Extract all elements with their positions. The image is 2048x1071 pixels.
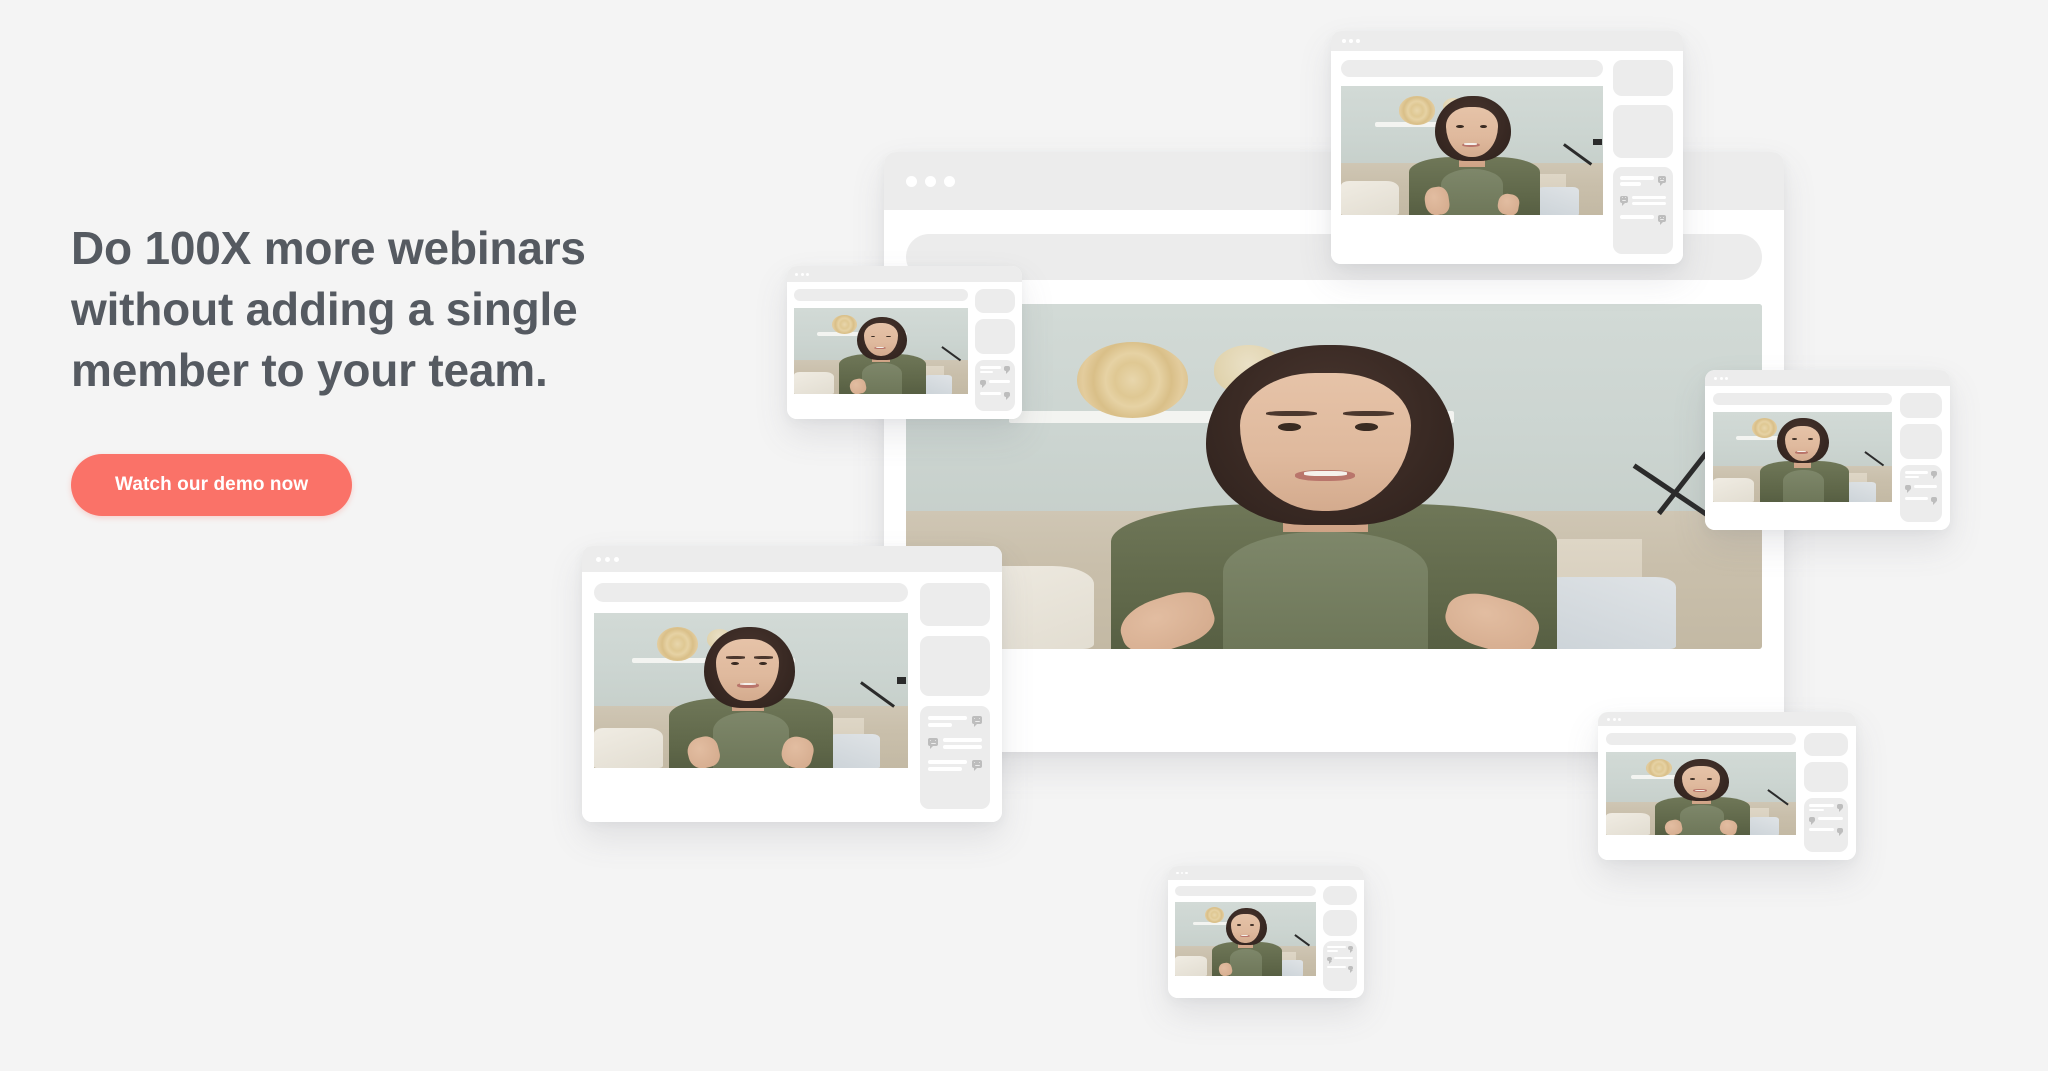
sidebar-panel-1[interactable] (975, 289, 1015, 313)
window-low-right-titlebar (1598, 712, 1856, 726)
watch-demo-button[interactable]: Watch our demo now (71, 454, 352, 516)
window-top-right[interactable] (1331, 31, 1683, 264)
window-dots-icon (906, 176, 955, 187)
video-thumbnail[interactable] (594, 613, 908, 768)
sidebar-panel-2[interactable] (1323, 910, 1357, 936)
main-window-video[interactable] (906, 304, 1762, 649)
sidebar-chat-panel[interactable] (1613, 167, 1673, 254)
search-bar[interactable] (1713, 393, 1892, 405)
window-low-right[interactable] (1598, 712, 1856, 860)
window-sidebar (975, 289, 1015, 411)
sidebar-panel-2[interactable] (975, 319, 1015, 354)
sidebar-panel-1[interactable] (1900, 393, 1942, 418)
window-left-small[interactable] (787, 266, 1022, 419)
window-mid-right-titlebar (1705, 370, 1950, 386)
presenter-photo (906, 304, 1762, 649)
search-bar[interactable] (1341, 60, 1603, 77)
window-sidebar (1804, 733, 1848, 852)
sidebar-panel-1[interactable] (1804, 733, 1848, 756)
window-sidebar (1323, 886, 1357, 991)
presenter-photo (594, 613, 908, 768)
presenter-photo (1713, 412, 1892, 502)
window-dots-icon (795, 273, 809, 276)
presenter-photo (1341, 86, 1603, 215)
window-lower-left[interactable] (582, 546, 1002, 822)
window-left-small-titlebar (787, 266, 1022, 282)
page-title: Do 100X more webinars without adding a s… (71, 218, 751, 402)
sidebar-chat-panel[interactable] (1804, 798, 1848, 852)
search-bar[interactable] (794, 289, 968, 301)
sidebar-panel-2[interactable] (1804, 762, 1848, 792)
sidebar-panel-2[interactable] (1613, 105, 1673, 158)
presenter-photo (1175, 902, 1316, 976)
window-sidebar (1613, 60, 1673, 254)
window-dots-icon (1607, 718, 1621, 721)
window-dots-icon (1176, 872, 1188, 875)
window-dots-icon (1714, 377, 1728, 380)
search-bar[interactable] (1606, 733, 1796, 745)
window-sidebar (1900, 393, 1942, 522)
sidebar-chat-panel[interactable] (975, 360, 1015, 411)
window-bottom[interactable] (1168, 866, 1364, 998)
window-sidebar (920, 583, 990, 809)
video-thumbnail[interactable] (1713, 412, 1892, 502)
window-top-right-titlebar (1331, 31, 1683, 51)
hero-section: Do 100X more webinars without adding a s… (0, 0, 2048, 1071)
video-thumbnail[interactable] (1606, 752, 1796, 835)
sidebar-chat-panel[interactable] (1900, 465, 1942, 522)
window-dots-icon (596, 557, 619, 562)
video-thumbnail[interactable] (1341, 86, 1603, 215)
video-thumbnail[interactable] (794, 308, 968, 394)
search-bar[interactable] (1175, 886, 1316, 896)
sidebar-panel-1[interactable] (920, 583, 990, 626)
hero-copy: Do 100X more webinars without adding a s… (71, 218, 751, 516)
video-thumbnail[interactable] (1175, 902, 1316, 976)
sidebar-chat-panel[interactable] (920, 706, 990, 809)
window-collage (0, 0, 2048, 1071)
presenter-photo (1606, 752, 1796, 835)
window-bottom-titlebar (1168, 866, 1364, 880)
presenter-photo (794, 308, 968, 394)
window-lower-left-titlebar (582, 546, 1002, 572)
sidebar-chat-panel[interactable] (1323, 941, 1357, 991)
sidebar-panel-1[interactable] (1323, 886, 1357, 905)
sidebar-panel-1[interactable] (1613, 60, 1673, 96)
window-mid-right[interactable] (1705, 370, 1950, 530)
window-dots-icon (1342, 39, 1360, 43)
sidebar-panel-2[interactable] (1900, 424, 1942, 459)
sidebar-panel-2[interactable] (920, 636, 990, 696)
search-bar[interactable] (594, 583, 908, 602)
